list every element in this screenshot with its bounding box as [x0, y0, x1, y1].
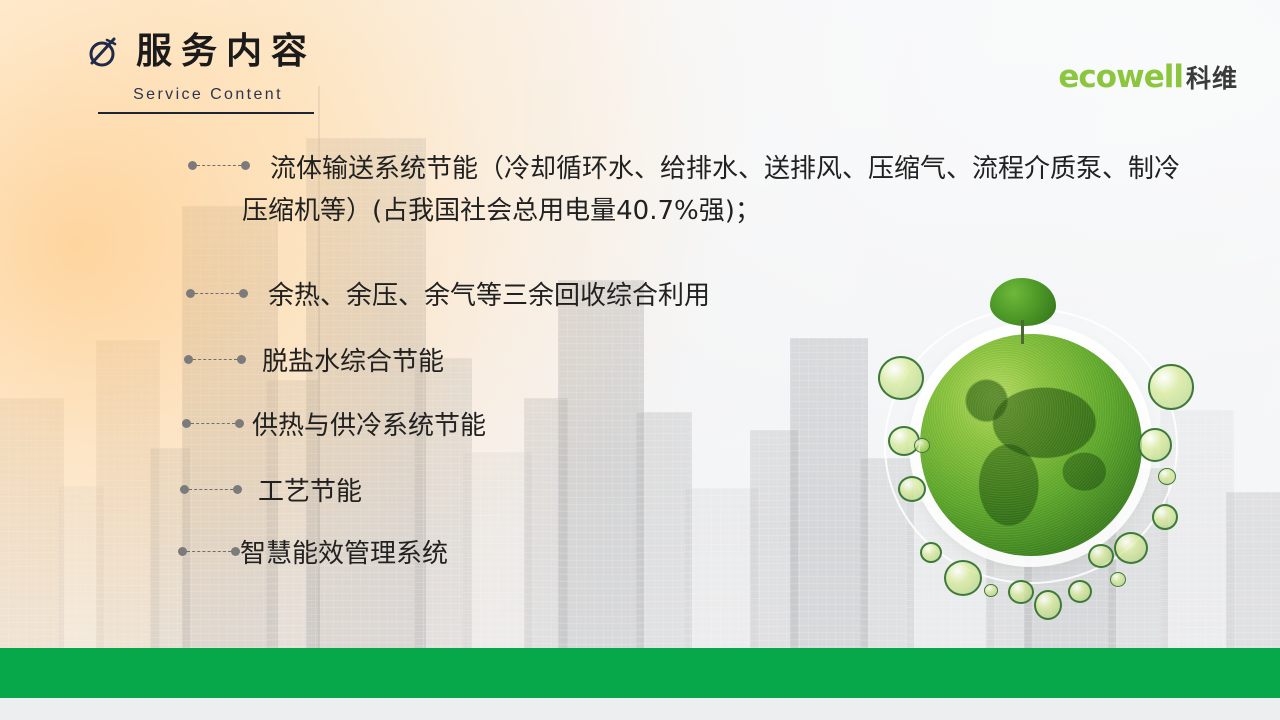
water-droplet-icon: [898, 476, 926, 502]
green-chevron-icon: [116, 334, 188, 378]
footer-strip: [0, 698, 1280, 720]
water-droplet-icon: [1068, 580, 1092, 603]
water-droplet-icon: [1148, 364, 1194, 410]
bullet-connector: [188, 160, 250, 170]
water-droplet-icon: [878, 356, 924, 400]
footer-green-band: [0, 648, 1280, 698]
page-subtitle: Service Content: [98, 86, 318, 104]
water-droplet-icon: [1034, 590, 1062, 620]
presentation-slide: 服务内容 Service Content ecowell 科维 流体输送系统节能…: [0, 0, 1280, 720]
diameter-slash-icon: [86, 35, 120, 69]
company-logo[interactable]: ecowell 科维: [1058, 62, 1238, 93]
list-item-text: 工艺节能: [258, 471, 362, 513]
green-globe-artwork: [862, 272, 1202, 628]
title-underline: [98, 112, 314, 114]
list-item-line2: 压缩机等）(占我国社会总用电量40.7%强)；: [242, 190, 1270, 232]
tree-icon: [990, 278, 1056, 344]
bullet-connector: [178, 546, 240, 556]
bullet-connector: [180, 484, 242, 494]
page-title: 服务内容: [136, 34, 316, 70]
bullet-connector: [182, 418, 244, 428]
water-droplet-icon: [984, 584, 998, 597]
green-chevron-icon: [114, 398, 186, 442]
green-earth-icon: [920, 334, 1142, 556]
list-item-text: 脱盐水综合节能: [262, 341, 444, 383]
green-chevron-icon: [118, 268, 190, 312]
water-droplet-icon: [1114, 532, 1148, 564]
water-droplet-icon: [1110, 572, 1126, 587]
water-droplet-icon: [1138, 428, 1172, 462]
water-droplet-icon: [1088, 544, 1114, 568]
water-droplet-icon: [944, 560, 982, 596]
bullet-connector: [184, 354, 246, 364]
bullet-connector: [186, 288, 248, 298]
green-chevron-icon: [110, 526, 182, 570]
list-item-text: 智慧能效管理系统: [240, 533, 448, 575]
green-chevron-icon: [120, 142, 192, 186]
green-chevron-icon: [112, 464, 184, 508]
water-droplet-icon: [1158, 468, 1176, 485]
logo-wordmark-en: ecowell: [1058, 62, 1183, 93]
list-item-text: 供热与供冷系统节能: [252, 405, 486, 447]
page-title-row: 服务内容: [86, 34, 316, 70]
water-droplet-icon: [914, 438, 930, 453]
water-droplet-icon: [1152, 504, 1178, 530]
water-droplet-icon: [1008, 580, 1034, 604]
list-item-line1: 流体输送系统节能（冷却循环水、给排水、送排风、压缩气、流程介质泵、制冷: [270, 154, 1180, 184]
water-droplet-icon: [920, 542, 942, 563]
list-item-text: 余热、余压、余气等三余回收综合利用: [268, 275, 710, 317]
logo-wordmark-cn: 科维: [1186, 66, 1238, 91]
list-item-text: 流体输送系统节能（冷却循环水、给排水、送排风、压缩气、流程介质泵、制冷 压缩机等…: [270, 148, 1270, 232]
